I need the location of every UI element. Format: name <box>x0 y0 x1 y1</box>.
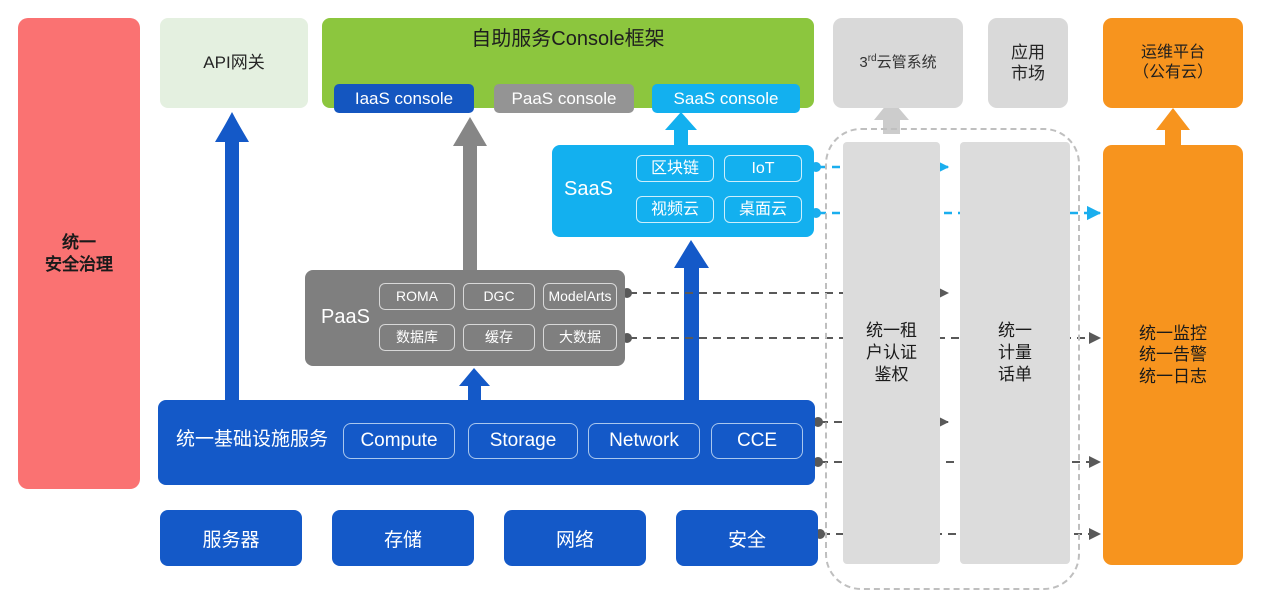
saas-service-iot[interactable]: IoT <box>724 155 802 182</box>
third-party-cloud-superscript: rd <box>868 53 877 64</box>
paas-service-modelarts-label: ModelArts <box>548 288 611 306</box>
arrow-iaas-to-saas <box>674 240 709 402</box>
paas-service-dgc[interactable]: DGC <box>463 283 535 310</box>
infrastructure-service-cce[interactable]: CCE <box>711 423 803 459</box>
hardware-server-label: 服务器 <box>202 525 259 552</box>
infrastructure-service-network-label: Network <box>609 429 679 453</box>
saas-service-iot-label: IoT <box>751 159 774 179</box>
paas-service-big-data[interactable]: 大数据 <box>543 324 617 351</box>
api-gateway-box[interactable]: API网关 <box>160 18 308 108</box>
paas-service-roma[interactable]: ROMA <box>379 283 455 310</box>
third-party-cloud-management-box[interactable]: 3rd云管系统 <box>833 18 963 108</box>
unified-tenant-auth-column[interactable]: 统一租户认证鉴权 <box>843 142 940 564</box>
app-market-label: 应用市场 <box>1011 42 1045 85</box>
security-governance-column[interactable]: 统一安全治理 <box>18 18 140 489</box>
arrow-paas-to-console <box>453 117 487 272</box>
saas-layer-box[interactable]: SaaS 区块链 IoT 视频云 桌面云 <box>552 145 814 237</box>
infrastructure-service-compute-label: Compute <box>360 429 437 453</box>
app-market-box[interactable]: 应用市场 <box>988 18 1068 108</box>
infrastructure-service-cce-label: CCE <box>737 429 777 453</box>
hardware-storage-label: 存储 <box>384 525 422 552</box>
saas-console-chip[interactable]: SaaS console <box>652 84 800 113</box>
hardware-server-box[interactable]: 服务器 <box>160 510 302 566</box>
infrastructure-service-storage-label: Storage <box>490 429 557 453</box>
architecture-diagram-canvas: 统一安全治理 API网关 自助服务Console框架 IaaS console … <box>0 0 1265 605</box>
ops-platform-public-cloud-label: 运维平台（公有云） <box>1133 43 1213 83</box>
hardware-storage-box[interactable]: 存储 <box>332 510 474 566</box>
saas-service-blockchain[interactable]: 区块链 <box>636 155 714 182</box>
arrow-ops-column-to-ops-platform <box>1156 108 1190 146</box>
hardware-security-label: 安全 <box>728 525 766 552</box>
paas-service-big-data-label: 大数据 <box>559 329 601 347</box>
arrow-iaas-to-api-gateway <box>215 112 249 400</box>
hardware-network-label: 网络 <box>556 525 594 552</box>
saas-console-label: SaaS console <box>674 88 779 109</box>
ops-platform-public-cloud-box[interactable]: 运维平台（公有云） <box>1103 18 1243 108</box>
paas-service-modelarts[interactable]: ModelArts <box>543 283 617 310</box>
security-governance-label: 统一安全治理 <box>45 232 113 275</box>
third-party-cloud-suffix: 云管系统 <box>877 54 937 71</box>
self-service-console-framework[interactable]: 自助服务Console框架 IaaS console PaaS console … <box>322 18 814 108</box>
unified-metering-billing-column[interactable]: 统一计量话单 <box>960 142 1070 564</box>
paas-service-database-label: 数据库 <box>396 329 438 347</box>
unified-monitoring-column[interactable]: 统一监控统一告警统一日志 <box>1103 145 1243 565</box>
infrastructure-service-network[interactable]: Network <box>588 423 700 459</box>
third-party-cloud-prefix: 3 <box>859 54 867 71</box>
paas-service-roma-label: ROMA <box>396 288 438 306</box>
unified-infrastructure-services-bar[interactable]: 统一基础设施服务 Compute Storage Network CCE <box>158 400 815 485</box>
hardware-network-box[interactable]: 网络 <box>504 510 646 566</box>
infrastructure-service-storage[interactable]: Storage <box>468 423 578 459</box>
paas-service-dgc-label: DGC <box>483 288 514 306</box>
infrastructure-service-compute[interactable]: Compute <box>343 423 455 459</box>
saas-service-desktop-cloud[interactable]: 桌面云 <box>724 196 802 223</box>
iaas-console-chip[interactable]: IaaS console <box>334 84 474 113</box>
unified-infrastructure-services-label: 统一基础设施服务 <box>176 428 328 452</box>
paas-service-database[interactable]: 数据库 <box>379 324 455 351</box>
paas-console-chip[interactable]: PaaS console <box>494 84 634 113</box>
saas-service-video-cloud[interactable]: 视频云 <box>636 196 714 223</box>
iaas-console-label: IaaS console <box>355 88 453 109</box>
paas-service-cache[interactable]: 缓存 <box>463 324 535 351</box>
console-framework-title: 自助服务Console框架 <box>322 27 814 52</box>
arrow-saas-to-console <box>665 112 697 148</box>
paas-console-label: PaaS console <box>512 88 617 109</box>
third-party-cloud-label: 3rd云管系统 <box>859 53 936 73</box>
saas-layer-label: SaaS <box>564 177 613 202</box>
saas-service-blockchain-label: 区块链 <box>651 159 699 179</box>
paas-layer-label: PaaS <box>321 305 370 330</box>
saas-service-video-cloud-label: 视频云 <box>651 200 699 220</box>
hardware-security-box[interactable]: 安全 <box>676 510 818 566</box>
unified-monitoring-label: 统一监控统一告警统一日志 <box>1139 323 1207 387</box>
api-gateway-label: API网关 <box>203 52 264 73</box>
unified-metering-billing-label: 统一计量话单 <box>998 320 1032 386</box>
paas-layer-box[interactable]: PaaS ROMA DGC ModelArts 数据库 缓存 大数据 <box>305 270 625 366</box>
paas-service-cache-label: 缓存 <box>485 329 513 347</box>
unified-tenant-auth-label: 统一租户认证鉴权 <box>866 320 917 386</box>
arrow-iaas-to-paas <box>459 368 490 402</box>
saas-service-desktop-cloud-label: 桌面云 <box>739 200 787 220</box>
